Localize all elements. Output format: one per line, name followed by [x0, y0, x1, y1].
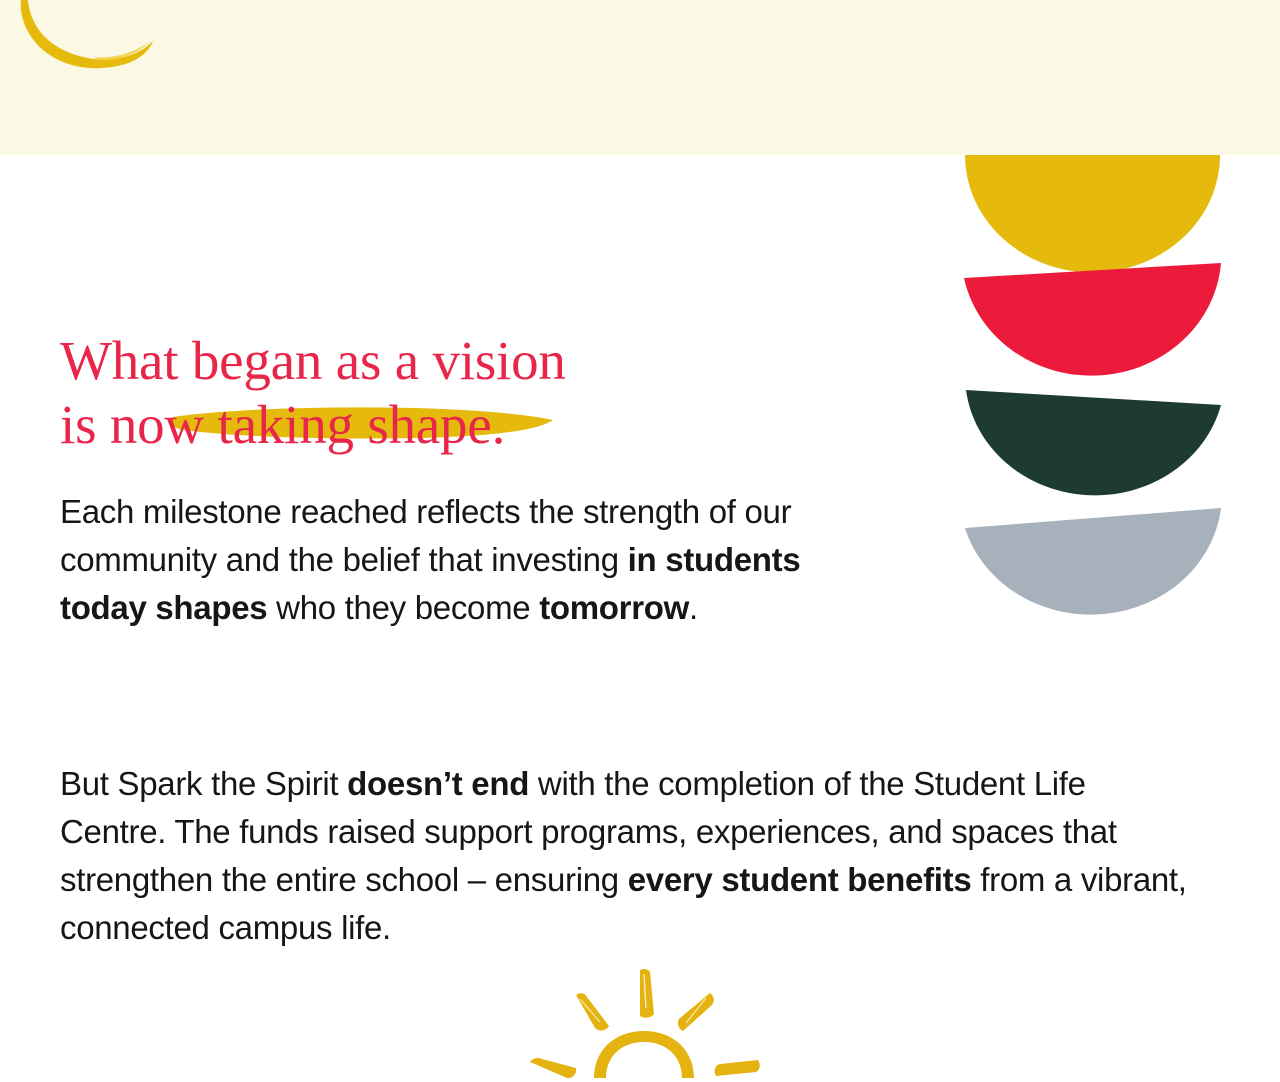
sun-doodle-icon	[520, 952, 770, 1082]
semicircle-green	[966, 390, 1221, 495]
emphasis-text: every student benefits	[628, 861, 972, 898]
headline-line-2-before: is now	[60, 394, 218, 455]
plain-text: who they become	[267, 589, 539, 626]
body-paragraph: But Spark the Spirit doesn’t end with th…	[60, 760, 1200, 952]
semicircle-grey	[965, 508, 1221, 615]
emphasis-text: doesn’t end	[347, 765, 529, 802]
page-title: What began as a visionis now taking shap…	[60, 329, 680, 457]
stacked-semicircles-graphic	[940, 150, 1240, 650]
headline-highlight: taking shape	[218, 394, 492, 455]
plain-text: .	[689, 589, 698, 626]
crescent-swoosh-icon	[8, 0, 178, 88]
top-cream-band	[0, 0, 1280, 155]
headline-line-1: What began as a vision	[60, 330, 566, 391]
emphasis-text: tomorrow	[539, 589, 689, 626]
headline-line-2-after: .	[492, 394, 506, 455]
plain-text: But Spark the Spirit	[60, 765, 347, 802]
semicircle-yellow	[965, 155, 1220, 272]
semicircle-red	[964, 263, 1221, 376]
intro-paragraph: Each milestone reached reflects the stre…	[60, 488, 850, 632]
